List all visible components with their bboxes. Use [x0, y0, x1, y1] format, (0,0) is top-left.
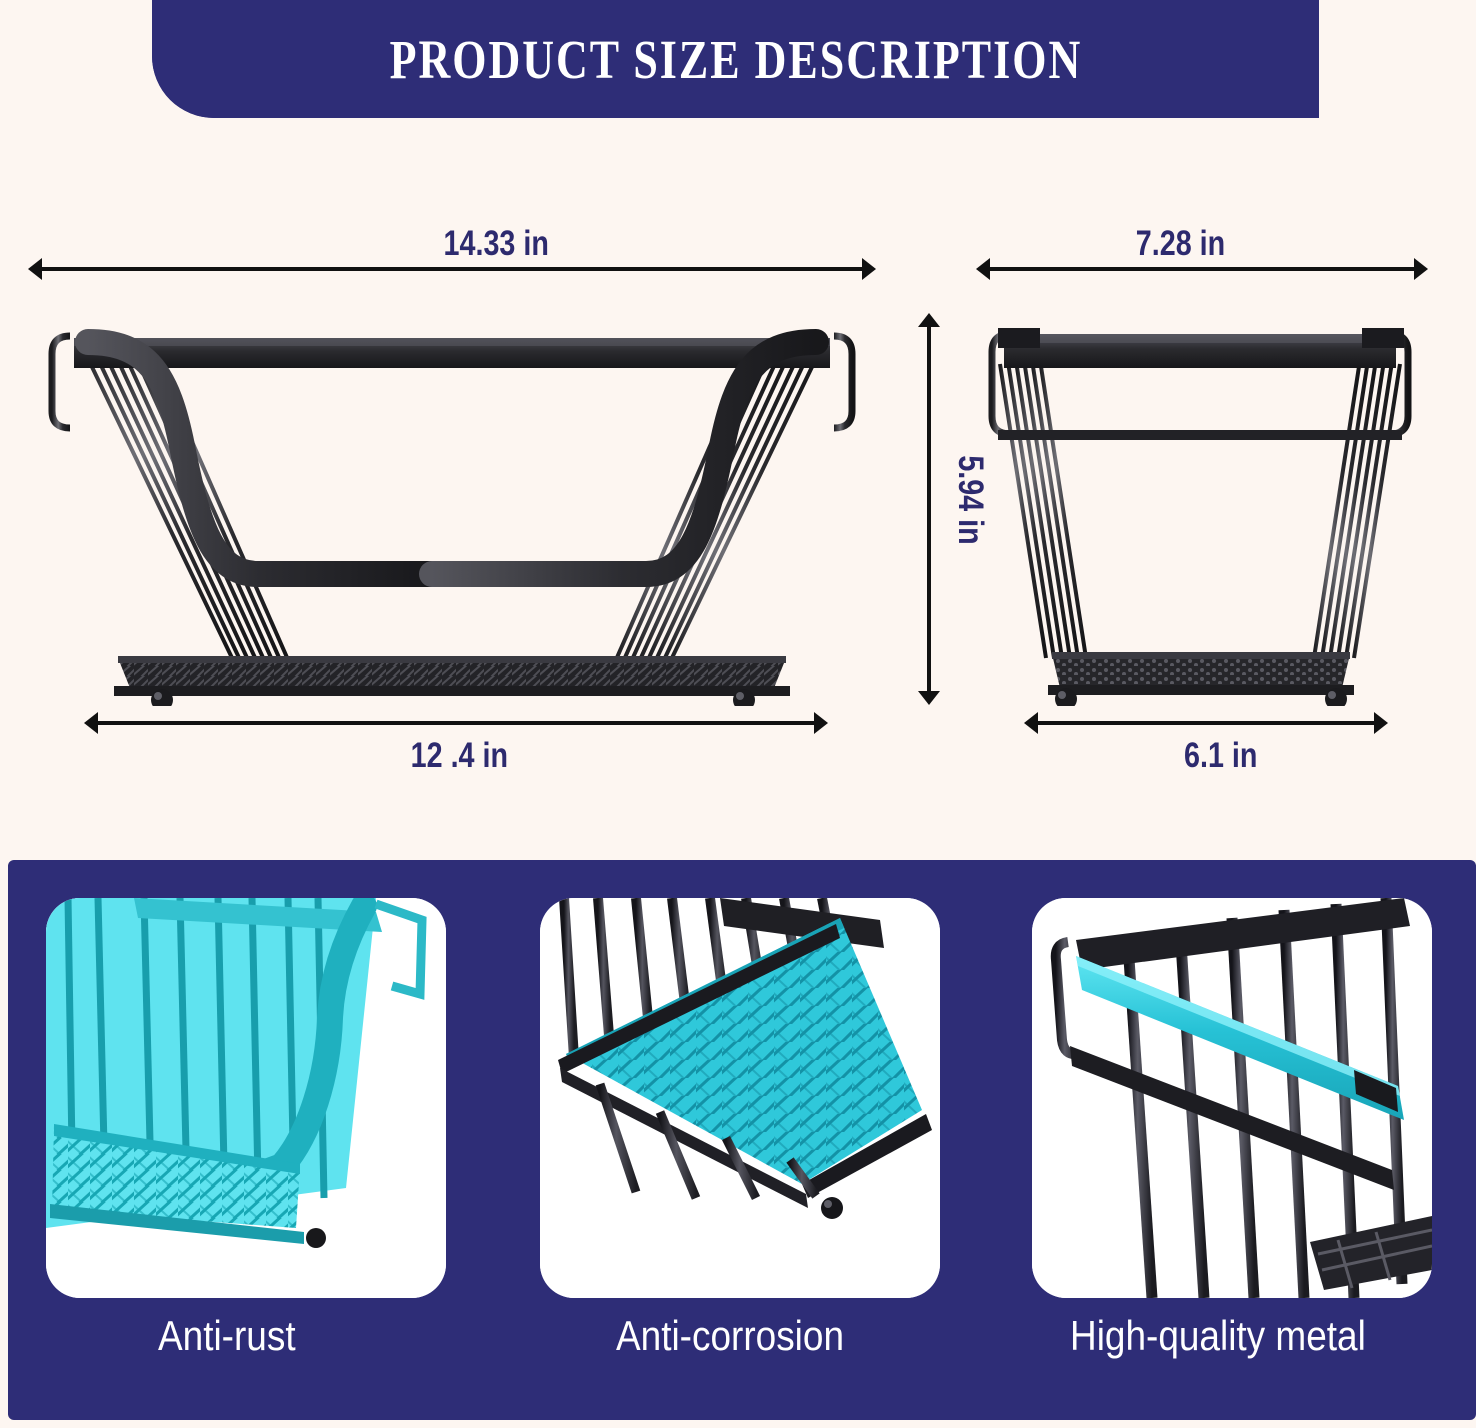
arrow-head-right [1374, 712, 1388, 734]
arrow-shaft [1035, 721, 1377, 725]
feature-caption-anti-rust: Anti-rust [158, 1312, 296, 1360]
arrow-head-right [1414, 258, 1428, 280]
arrow-head-left [1024, 712, 1038, 734]
arrow-head-bottom [918, 691, 940, 705]
feature-card-anti-rust [46, 898, 446, 1298]
front-top-width-arrow [28, 258, 876, 280]
arrow-head-left [84, 712, 98, 734]
arrow-head-left [976, 258, 990, 280]
side-top-width-arrow [976, 258, 1428, 280]
side-view-basket [970, 306, 1430, 706]
arrow-head-left [28, 258, 42, 280]
feature-card-high-quality-metal [1032, 898, 1432, 1298]
arrow-head-right [814, 712, 828, 734]
feature-caption-anti-corrosion: Anti-corrosion [616, 1312, 844, 1360]
front-bottom-width-label: 12 .4 in [411, 736, 508, 776]
arrow-shaft [927, 324, 931, 694]
front-bottom-width-arrow [84, 712, 828, 734]
feature-caption-high-quality-metal: High-quality metal [1070, 1312, 1366, 1360]
infographic-root: PRODUCT SIZE DESCRIPTION 14.33 in [0, 0, 1476, 1428]
side-bottom-width-arrow [1024, 712, 1388, 734]
front-view-basket [22, 306, 882, 706]
page-title: PRODUCT SIZE DESCRIPTION [389, 28, 1082, 91]
side-bottom-width-label: 6.1 in [1184, 736, 1257, 776]
arrow-head-top [918, 313, 940, 327]
arrow-shaft [39, 267, 865, 271]
feature-card-anti-corrosion [540, 898, 940, 1298]
height-arrow [918, 313, 940, 705]
feature-band: Anti-rust [8, 860, 1476, 1420]
arrow-shaft [95, 721, 817, 725]
header-banner: PRODUCT SIZE DESCRIPTION [152, 0, 1319, 118]
arrow-shaft [987, 267, 1417, 271]
arrow-head-right [862, 258, 876, 280]
